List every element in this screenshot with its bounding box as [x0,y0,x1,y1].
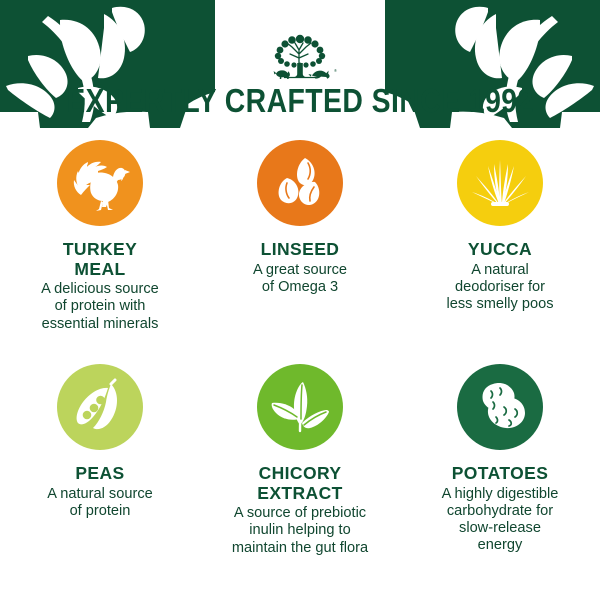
linseed-seeds-icon [271,154,329,212]
feature-description: A source of prebiotic inulin helping to … [232,505,368,557]
chicory-leaves-icon [270,377,330,437]
feature-desc-line: of Omega 3 [253,279,347,296]
feature-desc-line: carbohydrate for [442,503,559,520]
feature-title: PEAS [75,464,124,484]
tree-with-dogs-logo: ® [254,30,346,88]
feature-title: TURKEY MEAL [63,240,137,279]
feature-desc-line: slow-release [442,520,559,537]
peas-icon-badge [57,364,143,450]
linseed-icon-badge [257,140,343,226]
feature-title-line: EXTRACT [257,484,342,504]
feature-card-linseed: LINSEED A great source of Omega 3 [200,140,400,362]
feature-title: POTATOES [452,464,549,484]
feature-card-turkey-meal: TURKEY MEAL A delicious source of protei… [0,140,200,362]
feature-description: A delicious source of protein with essen… [41,281,159,333]
feature-desc-line: A natural [446,262,553,279]
feature-desc-line: A highly digestible [442,486,559,503]
chicory-icon-badge [257,364,343,450]
feature-title-line: PEAS [75,464,124,484]
feature-title-line: CHICORY [257,464,342,484]
feature-title-line: YUCCA [468,240,532,260]
feature-title-line: LINSEED [261,240,340,260]
feature-desc-line: A great source [253,262,347,279]
yucca-grass-icon [469,152,531,214]
turkey-icon [68,151,132,215]
feature-desc-line: of protein with [41,298,159,315]
feature-description: A natural source of protein [47,486,152,520]
feature-description: A highly digestible carbohydrate for slo… [442,486,559,555]
turkey-icon-badge [57,140,143,226]
feature-desc-line: A source of prebiotic [232,505,368,522]
feature-title-line: POTATOES [452,464,549,484]
feature-description: A natural deodoriser for less smelly poo… [446,262,553,314]
feature-card-chicory-extract: CHICORY EXTRACT A source of prebiotic in… [200,364,400,557]
feature-desc-line: maintain the gut flora [232,540,368,557]
feature-desc-line: less smelly poos [446,296,553,313]
feature-desc-line: essential minerals [41,316,159,333]
potatoes-icon [471,378,529,436]
feature-title: YUCCA [468,240,532,260]
ingredients-grid: TURKEY MEAL A delicious source of protei… [0,140,600,557]
feature-desc-line: A natural source [47,486,152,503]
feature-title: CHICORY EXTRACT [257,464,342,503]
potatoes-icon-badge [457,364,543,450]
feature-description: A great source of Omega 3 [253,262,347,296]
feature-desc-line: deodoriser for [446,279,553,296]
svg-text:®: ® [334,68,337,73]
feature-card-yucca: YUCCA A natural deodoriser for less smel… [400,140,600,362]
header-banner: ® EXPERTLY CRAFTED SINCE 1992 [0,0,600,128]
feature-title-line: MEAL [63,260,137,280]
yucca-icon-badge [457,140,543,226]
page-title: EXPERTLY CRAFTED SINCE 1992 [42,84,558,117]
feature-title: LINSEED [261,240,340,260]
feature-desc-line: A delicious source [41,281,159,298]
pea-pod-icon [71,378,129,436]
feature-desc-line: inulin helping to [232,522,368,539]
feature-card-potatoes: POTATOES A highly digestible carbohydrat… [400,364,600,557]
feature-desc-line: of protein [47,503,152,520]
feature-title-line: TURKEY [63,240,137,260]
feature-desc-line: energy [442,537,559,554]
feature-card-peas: PEAS A natural source of protein [0,364,200,557]
